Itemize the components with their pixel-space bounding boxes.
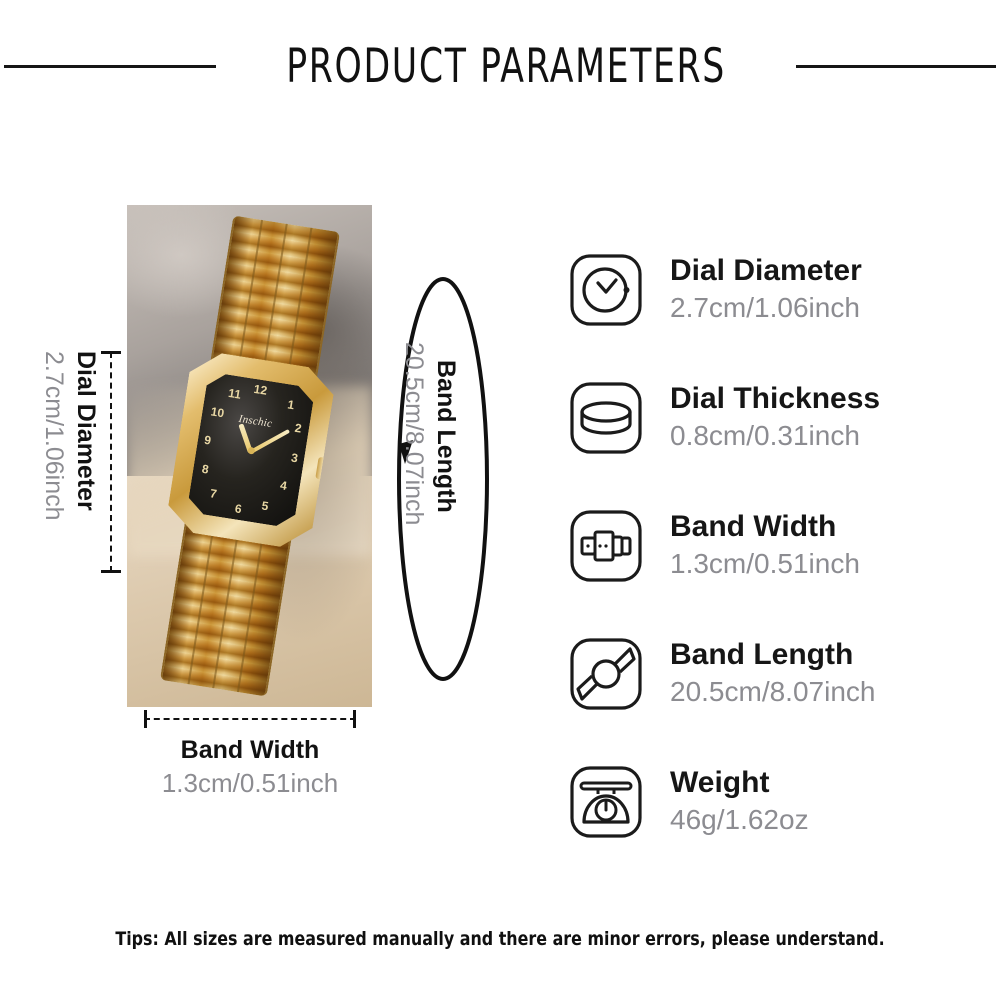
dial-numeral: 4 [279, 478, 288, 493]
spec-value: 1.3cm/0.51inch [670, 547, 860, 581]
band-length-annotation: Band Length 20.5cm/8.07inch [388, 272, 498, 687]
spec-label: Weight [670, 766, 809, 800]
dial-numeral: 3 [290, 451, 299, 466]
band-width-value: 1.3cm/0.51inch [120, 768, 380, 799]
spec-label: Dial Thickness [670, 382, 880, 416]
measure-cap-bottom [101, 570, 121, 573]
spec-value: 0.8cm/0.31inch [670, 419, 880, 453]
spec-list: Dial Diameter 2.7cm/1.06inch Dial Thickn… [568, 252, 968, 892]
dial-numeral: 12 [252, 382, 267, 398]
page-title: PRODUCT PARAMETERS [286, 39, 726, 94]
band-width-label: Band Width [120, 736, 380, 765]
measure-line-horizontal-wrap [144, 708, 356, 730]
spec-value: 2.7cm/1.06inch [670, 291, 862, 325]
band-width-annotation: Band Width 1.3cm/0.51inch [120, 708, 380, 799]
watch-dial-icon [568, 252, 644, 328]
dial-diameter-value: 2.7cm/1.06inch [38, 351, 68, 601]
spec-label: Band Width [670, 510, 860, 544]
band-length-value: 20.5cm/8.07inch [399, 342, 428, 525]
spec-value: 20.5cm/8.07inch [670, 675, 875, 709]
watch-dial: Inschic 12 1 2 3 4 5 6 7 8 9 10 11 [186, 372, 315, 529]
dial-numeral: 10 [209, 404, 224, 420]
dial-numeral: 11 [227, 386, 242, 402]
dial-numeral: 6 [233, 501, 242, 516]
spec-text: Dial Diameter 2.7cm/1.06inch [670, 252, 862, 325]
spec-value: 46g/1.62oz [670, 803, 809, 837]
spec-label: Band Length [670, 638, 875, 672]
title-rule-left [4, 65, 216, 68]
dial-numeral: 2 [293, 421, 302, 436]
kitchen-scale-icon [568, 764, 644, 840]
dial-diameter-annotation: Dial Diameter 2.7cm/1.06inch [38, 340, 128, 590]
spec-row-dial-thickness: Dial Thickness 0.8cm/0.31inch [568, 380, 968, 508]
dial-numeral: 8 [200, 462, 209, 477]
watch-minute-hand [249, 429, 289, 454]
spec-row-band-length: Band Length 20.5cm/8.07inch [568, 636, 968, 764]
spec-text: Band Width 1.3cm/0.51inch [670, 508, 860, 581]
watch-strap-icon [568, 636, 644, 712]
dial-numeral: 1 [286, 397, 295, 412]
watch-buckle-icon [568, 508, 644, 584]
measure-line-horizontal [144, 718, 356, 720]
disc-thickness-icon [568, 380, 644, 456]
dial-numeral: 9 [203, 433, 212, 448]
spec-row-weight: Weight 46g/1.62oz [568, 764, 968, 892]
spec-text: Band Length 20.5cm/8.07inch [670, 636, 875, 709]
product-parameters-page: PRODUCT PARAMETERS Inschic 12 [0, 0, 1000, 1000]
dial-diameter-label: Dial Diameter [70, 351, 100, 601]
band-length-label: Band Length [431, 360, 460, 513]
tips-note: Tips: All sizes are measured manually an… [35, 928, 965, 950]
spec-text: Dial Thickness 0.8cm/0.31inch [670, 380, 880, 453]
spec-label: Dial Diameter [670, 254, 862, 288]
title-rule-right [796, 65, 996, 68]
watch-case: Inschic 12 1 2 3 4 5 6 7 8 9 10 11 [164, 349, 337, 552]
dial-numeral: 7 [208, 486, 217, 501]
measure-cap-right [353, 710, 356, 728]
measure-line-vertical [110, 352, 112, 572]
spec-text: Weight 46g/1.62oz [670, 764, 809, 837]
header: PRODUCT PARAMETERS [0, 34, 1000, 98]
spec-row-dial-diameter: Dial Diameter 2.7cm/1.06inch [568, 252, 968, 380]
dial-numeral: 5 [260, 499, 269, 514]
spec-row-band-width: Band Width 1.3cm/0.51inch [568, 508, 968, 636]
product-photo: Inschic 12 1 2 3 4 5 6 7 8 9 10 11 [127, 205, 372, 707]
